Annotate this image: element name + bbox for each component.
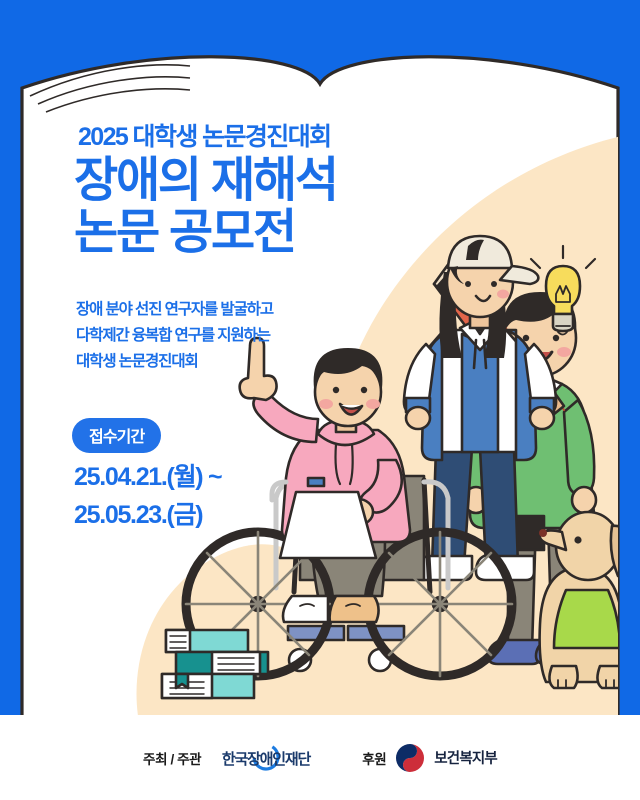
poster-text-block: 2025 대학생 논문경진대회 장애의 재해석 논문 공모전 장애 분야 선진 … — [0, 0, 640, 800]
date-line-end: 25.05.23.(금) — [74, 496, 221, 534]
poster-canvas: 2025 대학생 논문경진대회 장애의 재해석 논문 공모전 장애 분야 선진 … — [0, 0, 640, 800]
subcopy-line-2: 다학제간 융복합 연구를 지원하는 — [76, 323, 273, 349]
sponsor-label: 후원 — [362, 748, 386, 768]
kdf-logo-icon: 한국장애인재단 — [210, 743, 322, 773]
kdf-logo-text: 한국장애인재단 — [222, 750, 312, 768]
taegeuk-icon — [395, 743, 425, 773]
host-group: 주최 / 주관 한국장애인재단 — [143, 743, 322, 773]
headline-line-1: 장애의 재해석 — [74, 155, 337, 207]
poster-kicker: 2025 대학생 논문경진대회 — [78, 117, 331, 153]
application-period-badge: 접수기간 — [72, 418, 161, 453]
sponsor-org-name: 보건복지부 — [434, 747, 497, 768]
headline-line-2: 논문 공모전 — [74, 207, 337, 259]
subcopy-line-3: 대학생 논문경진대회 — [76, 349, 273, 375]
poster-footer: 주최 / 주관 한국장애인재단 후원 보건복지부 — [0, 715, 640, 800]
host-label: 주최 / 주관 — [143, 748, 201, 768]
poster-headline: 장애의 재해석 논문 공모전 — [74, 155, 337, 259]
date-line-start: 25.04.21.(월) ~ — [74, 458, 221, 496]
poster-subcopy: 장애 분야 선진 연구자를 발굴하고 다학제간 융복합 연구를 지원하는 대학생… — [76, 297, 273, 375]
subcopy-line-1: 장애 분야 선진 연구자를 발굴하고 — [76, 297, 273, 323]
application-period-dates: 25.04.21.(월) ~ 25.05.23.(금) — [74, 458, 221, 534]
sponsor-group: 후원 보건복지부 — [362, 743, 497, 773]
